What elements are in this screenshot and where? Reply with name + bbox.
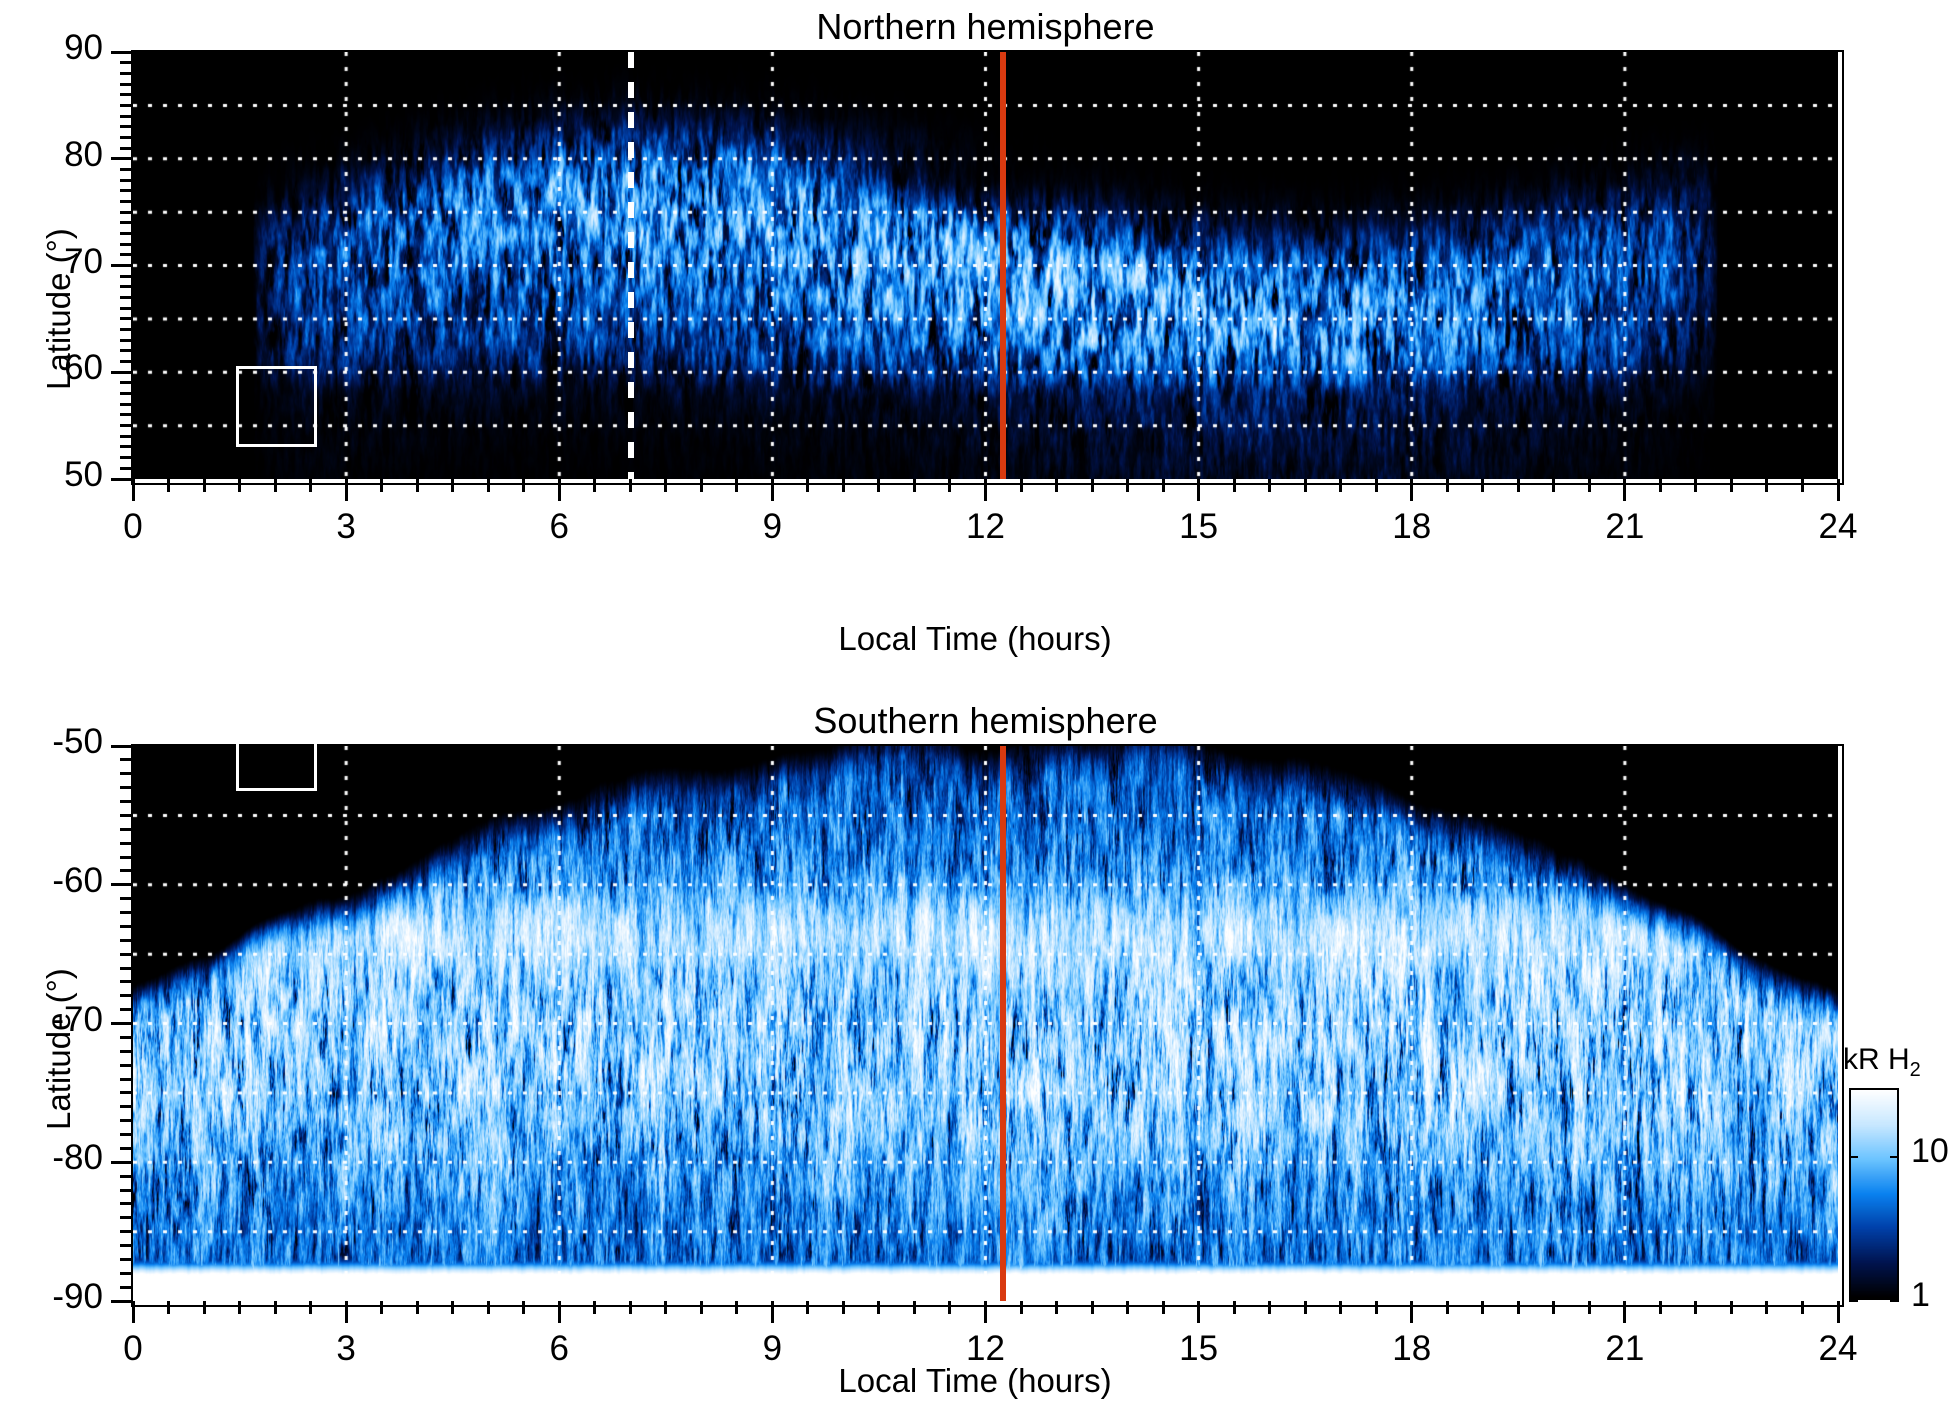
north-y-tick-minor: [120, 445, 133, 448]
north-x-tick-minor: [1801, 479, 1804, 492]
northern-panel-title: Northern hemisphere: [133, 6, 1838, 48]
south-x-tick-minor: [380, 1301, 383, 1314]
south-y-tick-minor: [120, 1258, 133, 1261]
south-y-tick-minor: [120, 953, 133, 956]
south-x-tick-minor: [1268, 1301, 1271, 1314]
south-x-tick-minor: [522, 1301, 525, 1314]
south-y-ticklabel: -50: [0, 722, 103, 762]
north-x-tick-minor: [1446, 479, 1449, 492]
south-y-tick-minor: [120, 1230, 133, 1233]
north-x-tick-minor: [1268, 479, 1271, 492]
southern-y-axis-label: Latitude (°): [40, 968, 78, 1130]
colorbar-tick: [1890, 1156, 1899, 1158]
north-y-tick-minor: [120, 467, 133, 470]
south-x-tick-major: [1623, 1301, 1626, 1323]
north-x-tick-minor: [1055, 479, 1058, 492]
north-x-tick-major: [1837, 479, 1840, 501]
colorbar-tick: [1890, 1300, 1899, 1302]
north-y-tick-minor: [120, 392, 133, 395]
north-x-tick-minor: [1339, 479, 1342, 492]
north-x-tick-minor: [1020, 479, 1023, 492]
south-y-tick-minor: [120, 1216, 133, 1219]
north-y-tick-minor: [120, 243, 133, 246]
south-x-tick-minor: [167, 1301, 170, 1314]
north-x-tick-major: [345, 479, 348, 501]
south-x-tick-minor: [664, 1301, 667, 1314]
south-x-tick-minor: [1801, 1301, 1804, 1314]
south-x-tick-minor: [1659, 1301, 1662, 1314]
south-y-tick-minor: [120, 1286, 133, 1289]
south-x-tick-major: [132, 1301, 135, 1323]
south-y-tick-major: [111, 745, 133, 748]
south-x-tick-minor: [842, 1301, 845, 1314]
south-y-tick-minor: [120, 1147, 133, 1150]
north-x-tick-minor: [1162, 479, 1165, 492]
north-x-tick-minor: [1126, 479, 1129, 492]
south-x-tick-major: [984, 1301, 987, 1323]
north-x-tick-minor: [735, 479, 738, 492]
north-y-tick-minor: [120, 285, 133, 288]
figure-root: Northern hemisphere 5060708090 Latitude …: [0, 0, 1950, 1423]
colorbar-title-main: kR H: [1843, 1043, 1910, 1076]
north-y-tick-minor: [120, 232, 133, 235]
southern-panel-title: Southern hemisphere: [133, 700, 1838, 742]
south-y-tick-minor: [120, 800, 133, 803]
north-x-tick-minor: [1304, 479, 1307, 492]
south-x-tick-minor: [451, 1301, 454, 1314]
north-y-tick-minor: [120, 115, 133, 118]
north-y-tick-major: [111, 51, 133, 54]
south-x-tick-minor: [593, 1301, 596, 1314]
south-y-tick-minor: [120, 1050, 133, 1053]
south-y-tick-major: [111, 1161, 133, 1164]
south-y-tick-minor: [120, 772, 133, 775]
north-y-tick-minor: [120, 360, 133, 363]
south-x-tick-minor: [274, 1301, 277, 1314]
south-x-tick-minor: [1055, 1301, 1058, 1314]
north-y-tick-minor: [120, 125, 133, 128]
north-x-tick-major: [1623, 479, 1626, 501]
north-x-tick-minor: [877, 479, 880, 492]
south-x-tick-minor: [1020, 1301, 1023, 1314]
north-x-ticklabel: 12: [926, 507, 1046, 547]
north-y-tick-minor: [120, 317, 133, 320]
north-x-tick-minor: [238, 479, 241, 492]
south-y-tick-minor: [120, 980, 133, 983]
north-y-tick-minor: [120, 307, 133, 310]
north-y-ticklabel: 80: [0, 135, 103, 175]
south-x-tick-minor: [806, 1301, 809, 1314]
south-x-tick-minor: [1446, 1301, 1449, 1314]
south-y-tick-minor: [120, 1091, 133, 1094]
south-x-tick-minor: [948, 1301, 951, 1314]
north-y-tick-minor: [120, 328, 133, 331]
south-y-tick-minor: [120, 994, 133, 997]
north-x-tick-minor: [1091, 479, 1094, 492]
north-y-tick-minor: [120, 104, 133, 107]
north-x-tick-minor: [1552, 479, 1555, 492]
north-x-tick-minor: [451, 479, 454, 492]
north-x-tick-minor: [1233, 479, 1236, 492]
north-y-tick-minor: [120, 147, 133, 150]
south-y-tick-minor: [120, 897, 133, 900]
southern-hemisphere-plot[interactable]: [133, 746, 1838, 1301]
south-x-tick-minor: [1517, 1301, 1520, 1314]
south-y-tick-minor: [120, 828, 133, 831]
northern-y-axis-label: Latitude (°): [40, 228, 78, 390]
north-y-tick-minor: [120, 211, 133, 214]
colorbar-ticklabel: 10: [1911, 1132, 1949, 1171]
north-x-tick-minor: [593, 479, 596, 492]
north-x-tick-major: [771, 479, 774, 501]
south-x-tick-minor: [487, 1301, 490, 1314]
north-y-tick-minor: [120, 349, 133, 352]
south-y-tick-major: [111, 1022, 133, 1025]
south-x-tick-minor: [1091, 1301, 1094, 1314]
north-x-tick-minor: [203, 479, 206, 492]
south-y-tick-minor: [120, 939, 133, 942]
north-y-tick-minor: [120, 435, 133, 438]
north-x-tick-major: [984, 479, 987, 501]
south-y-tick-minor: [120, 786, 133, 789]
north-y-tick-major: [111, 157, 133, 160]
north-x-tick-minor: [1730, 479, 1733, 492]
south-y-tick-minor: [120, 842, 133, 845]
south-y-tick-minor: [120, 1119, 133, 1122]
colorbar-tick: [1849, 1300, 1858, 1302]
north-x-tick-minor: [1517, 479, 1520, 492]
north-y-ticklabel: 90: [0, 28, 103, 68]
north-x-tick-minor: [948, 479, 951, 492]
north-x-ticklabel: 6: [499, 507, 619, 547]
south-y-tick-minor: [120, 856, 133, 859]
northern-noon-meridian-line: [1000, 52, 1006, 479]
south-y-tick-minor: [120, 1105, 133, 1108]
north-x-tick-minor: [700, 479, 703, 492]
south-y-tick-major: [111, 1300, 133, 1303]
south-y-tick-minor: [120, 1189, 133, 1192]
north-x-tick-minor: [1765, 479, 1768, 492]
south-x-tick-major: [1410, 1301, 1413, 1323]
colorbar-tick: [1849, 1156, 1858, 1158]
north-x-tick-minor: [1481, 479, 1484, 492]
south-y-tick-minor: [120, 869, 133, 872]
south-x-tick-minor: [629, 1301, 632, 1314]
north-x-tick-minor: [1588, 479, 1591, 492]
south-x-tick-minor: [1694, 1301, 1697, 1314]
south-x-tick-minor: [700, 1301, 703, 1314]
north-x-ticklabel: 24: [1778, 507, 1898, 547]
north-y-tick-major: [111, 371, 133, 374]
north-y-tick-minor: [120, 253, 133, 256]
north-x-tick-minor: [664, 479, 667, 492]
north-x-tick-minor: [416, 479, 419, 492]
northern-pixel-size-box: [236, 366, 317, 447]
north-x-tick-minor: [1694, 479, 1697, 492]
north-y-tick-minor: [120, 456, 133, 459]
north-x-tick-major: [1197, 479, 1200, 501]
north-y-tick-minor: [120, 403, 133, 406]
north-x-tick-minor: [309, 479, 312, 492]
south-x-tick-minor: [416, 1301, 419, 1314]
southern-x-axis-label: Local Time (hours): [0, 1362, 1950, 1400]
south-x-tick-minor: [877, 1301, 880, 1314]
colorbar[interactable]: [1849, 1088, 1899, 1300]
south-x-tick-major: [1837, 1301, 1840, 1323]
south-y-tick-minor: [120, 1272, 133, 1275]
south-y-tick-minor: [120, 967, 133, 970]
colorbar-ticklabel: 1: [1911, 1276, 1930, 1315]
north-y-tick-minor: [120, 93, 133, 96]
north-x-ticklabel: 15: [1139, 507, 1259, 547]
north-x-ticklabel: 9: [712, 507, 832, 547]
north-y-tick-minor: [120, 381, 133, 384]
south-y-tick-minor: [120, 814, 133, 817]
north-x-tick-minor: [167, 479, 170, 492]
south-y-tick-minor: [120, 1175, 133, 1178]
south-x-tick-minor: [735, 1301, 738, 1314]
north-y-ticklabel: 50: [0, 455, 103, 495]
north-x-ticklabel: 3: [286, 507, 406, 547]
south-y-tick-minor: [120, 1078, 133, 1081]
north-x-tick-major: [132, 479, 135, 501]
south-x-tick-minor: [1375, 1301, 1378, 1314]
south-x-tick-minor: [1126, 1301, 1129, 1314]
north-x-tick-minor: [487, 479, 490, 492]
south-x-tick-minor: [1552, 1301, 1555, 1314]
north-y-tick-minor: [120, 168, 133, 171]
north-y-tick-minor: [120, 275, 133, 278]
north-x-tick-major: [1410, 479, 1413, 501]
south-x-tick-minor: [1730, 1301, 1733, 1314]
north-y-tick-minor: [120, 189, 133, 192]
south-x-tick-minor: [1339, 1301, 1342, 1314]
north-y-tick-minor: [120, 221, 133, 224]
north-x-ticklabel: 21: [1565, 507, 1685, 547]
north-y-tick-minor: [120, 413, 133, 416]
south-x-tick-minor: [1233, 1301, 1236, 1314]
north-y-tick-minor: [120, 296, 133, 299]
south-y-tick-minor: [120, 925, 133, 928]
north-y-tick-minor: [120, 200, 133, 203]
south-y-ticklabel: -60: [0, 861, 103, 901]
north-x-tick-minor: [522, 479, 525, 492]
north-x-ticklabel: 18: [1352, 507, 1472, 547]
north-y-tick-minor: [120, 83, 133, 86]
northern-x-axis-label: Local Time (hours): [0, 620, 1950, 658]
south-x-tick-minor: [1304, 1301, 1307, 1314]
north-x-tick-major: [558, 479, 561, 501]
southern-pixel-size-box: [236, 710, 317, 791]
north-y-tick-minor: [120, 136, 133, 139]
southern-noon-meridian-line: [1000, 746, 1006, 1301]
north-x-tick-minor: [274, 479, 277, 492]
south-x-tick-major: [558, 1301, 561, 1323]
south-y-ticklabel: -90: [0, 1277, 103, 1317]
south-x-tick-major: [345, 1301, 348, 1323]
northern-terminator-line: [628, 52, 634, 479]
north-x-tick-minor: [806, 479, 809, 492]
north-y-tick-major: [111, 478, 133, 481]
north-x-tick-minor: [1375, 479, 1378, 492]
colorbar-title: kR H2: [1843, 1043, 1921, 1082]
north-y-tick-minor: [120, 72, 133, 75]
south-x-tick-major: [771, 1301, 774, 1323]
south-y-tick-major: [111, 883, 133, 886]
south-y-tick-minor: [120, 1202, 133, 1205]
north-y-tick-minor: [120, 424, 133, 427]
north-x-ticklabel: 0: [73, 507, 193, 547]
south-y-tick-minor: [120, 758, 133, 761]
south-x-tick-minor: [1588, 1301, 1591, 1314]
north-x-tick-minor: [1659, 479, 1662, 492]
north-x-tick-minor: [629, 479, 632, 492]
south-x-tick-major: [1197, 1301, 1200, 1323]
colorbar-title-subscript: 2: [1910, 1059, 1921, 1081]
south-y-tick-minor: [120, 1244, 133, 1247]
north-x-tick-minor: [380, 479, 383, 492]
south-x-tick-minor: [1765, 1301, 1768, 1314]
south-y-tick-minor: [120, 1064, 133, 1067]
north-y-tick-minor: [120, 339, 133, 342]
north-y-tick-major: [111, 264, 133, 267]
north-y-tick-minor: [120, 179, 133, 182]
south-y-tick-minor: [120, 1036, 133, 1039]
south-y-tick-minor: [120, 1133, 133, 1136]
south-x-tick-minor: [238, 1301, 241, 1314]
south-x-tick-minor: [1162, 1301, 1165, 1314]
south-x-tick-minor: [1481, 1301, 1484, 1314]
north-x-tick-minor: [913, 479, 916, 492]
northern-hemisphere-plot[interactable]: [133, 52, 1838, 479]
south-x-tick-minor: [203, 1301, 206, 1314]
south-y-tick-minor: [120, 1008, 133, 1011]
south-x-tick-minor: [309, 1301, 312, 1314]
north-x-tick-minor: [842, 479, 845, 492]
south-x-tick-minor: [913, 1301, 916, 1314]
south-y-tick-minor: [120, 911, 133, 914]
south-y-ticklabel: -80: [0, 1138, 103, 1178]
north-y-tick-minor: [120, 61, 133, 64]
